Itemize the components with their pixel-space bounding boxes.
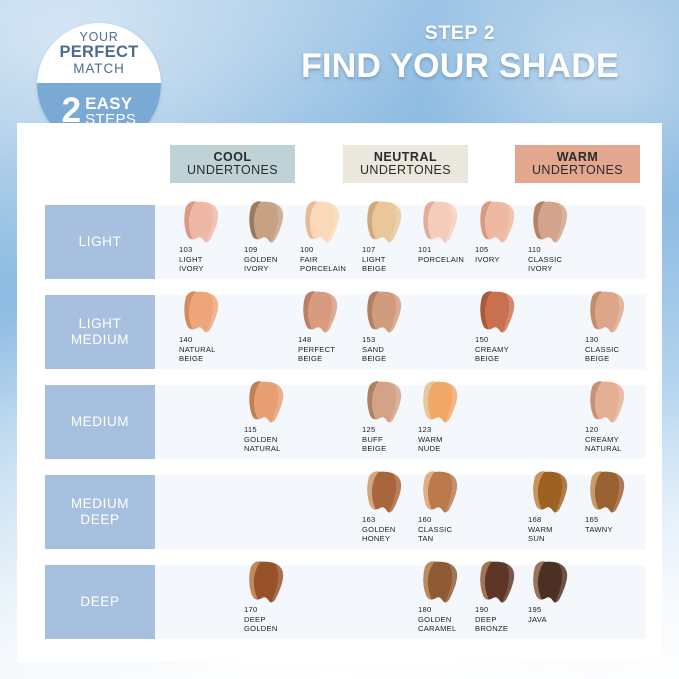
shade-label-100: 100FAIR PORCELAIN (300, 245, 346, 274)
shade-finder-infographic: STEP 2 FIND YOUR SHADE YOUR PERFECT MATC… (0, 0, 679, 679)
shade-depth-label-text: LIGHT (79, 234, 122, 250)
shade-name: FAIR PORCELAIN (300, 255, 346, 274)
step-label: STEP 2 (260, 24, 660, 44)
shade-label-165: 165TAWNY (585, 515, 613, 534)
shade-swatch-190 (474, 560, 520, 608)
shade-number: 170 (244, 605, 278, 615)
shade-number: 109 (244, 245, 278, 255)
shade-label-180: 180GOLDEN CARAMEL (418, 605, 456, 634)
shade-swatch-148 (297, 290, 343, 338)
shade-name: JAVA (528, 615, 547, 624)
shade-name: WARM SUN (528, 525, 553, 544)
shade-name: BUFF BEIGE (362, 435, 386, 454)
shade-name: GOLDEN CARAMEL (418, 615, 456, 634)
shade-label-101: 101PORCELAIN (418, 245, 464, 264)
shade-swatch-123 (417, 380, 463, 428)
shade-number: 148 (298, 335, 335, 345)
undertone-sublabel: UNDERTONES (532, 164, 623, 178)
shade-swatch-120 (584, 380, 630, 428)
shade-name: GOLDEN IVORY (244, 255, 278, 274)
badge-perfect-label: PERFECT (59, 44, 138, 61)
shade-number: 165 (585, 515, 613, 525)
shade-number: 150 (475, 335, 509, 345)
shade-label-148: 148PERFECT BEIGE (298, 335, 335, 364)
header: STEP 2 FIND YOUR SHADE (260, 24, 660, 84)
undertone-sublabel: UNDERTONES (187, 164, 278, 178)
shade-name: PERFECT BEIGE (298, 345, 335, 364)
shade-depth-label-medium: MEDIUM (45, 385, 155, 459)
shade-number: 123 (418, 425, 443, 435)
shade-swatch-153 (361, 290, 407, 338)
undertone-name: COOL (213, 151, 251, 165)
shade-number: 190 (475, 605, 508, 615)
shade-label-153: 153SAND BEIGE (362, 335, 386, 364)
shade-label-160: 160CLASSIC TAN (418, 515, 452, 544)
undertone-header-neutral: NEUTRALUNDERTONES (343, 145, 468, 183)
shade-swatch-115 (243, 380, 289, 428)
shade-number: 125 (362, 425, 386, 435)
shade-swatch-163 (361, 470, 407, 518)
shade-name: CLASSIC IVORY (528, 255, 562, 274)
shade-number: 107 (362, 245, 386, 255)
badge-match-label: MATCH (73, 62, 125, 76)
shade-swatch-103 (178, 200, 224, 248)
shade-number: 103 (179, 245, 204, 255)
shade-label-115: 115GOLDEN NATURAL (244, 425, 281, 454)
shade-swatch-125 (361, 380, 407, 428)
shade-depth-label-text: LIGHT MEDIUM (71, 316, 129, 348)
shade-depth-label-medium-deep: MEDIUM DEEP (45, 475, 155, 549)
shade-label-109: 109GOLDEN IVORY (244, 245, 278, 274)
shade-depth-label-light-medium: LIGHT MEDIUM (45, 295, 155, 369)
shade-name: WARM NUDE (418, 435, 443, 454)
shade-name: TAWNY (585, 525, 613, 534)
shade-name: CLASSIC BEIGE (585, 345, 619, 364)
page-title: FIND YOUR SHADE (260, 49, 660, 85)
shade-swatch-100 (299, 200, 345, 248)
shade-swatch-150 (474, 290, 520, 338)
shade-swatch-165 (584, 470, 630, 518)
shade-depth-label-text: MEDIUM DEEP (71, 496, 129, 528)
shade-label-105: 105IVORY (475, 245, 500, 264)
shade-number: 168 (528, 515, 553, 525)
shade-name: DEEP BRONZE (475, 615, 508, 634)
shade-name: PORCELAIN (418, 255, 464, 264)
shade-name: LIGHT IVORY (179, 255, 204, 274)
shade-name: GOLDEN NATURAL (244, 435, 281, 454)
shade-name: SAND BEIGE (362, 345, 386, 364)
shade-depth-label-text: DEEP (80, 594, 119, 610)
badge-top: YOUR PERFECT MATCH (37, 23, 161, 83)
shade-name: DEEP GOLDEN (244, 615, 278, 634)
shade-label-103: 103LIGHT IVORY (179, 245, 204, 274)
undertone-name: NEUTRAL (374, 151, 437, 165)
shade-name: GOLDEN HONEY (362, 525, 396, 544)
shade-name: CLASSIC TAN (418, 525, 452, 544)
shade-label-123: 123WARM NUDE (418, 425, 443, 454)
shade-swatch-195 (527, 560, 573, 608)
undertone-header-cool: COOLUNDERTONES (170, 145, 295, 183)
shade-depth-label-text: MEDIUM (71, 414, 129, 430)
shade-label-195: 195JAVA (528, 605, 547, 624)
undertone-header-warm: WARMUNDERTONES (515, 145, 640, 183)
shade-swatch-170 (243, 560, 289, 608)
shade-label-110: 110CLASSIC IVORY (528, 245, 562, 274)
badge-step-count: 2 (62, 97, 81, 126)
shade-depth-label-deep: DEEP (45, 565, 155, 639)
shade-name: CREAMY BEIGE (475, 345, 509, 364)
shade-swatch-168 (527, 470, 573, 518)
shade-number: 140 (179, 335, 216, 345)
undertone-sublabel: UNDERTONES (360, 164, 451, 178)
shade-number: 120 (585, 425, 622, 435)
shade-number: 130 (585, 335, 619, 345)
shade-depth-label-light: LIGHT (45, 205, 155, 279)
shade-name: LIGHT BEIGE (362, 255, 386, 274)
shade-label-163: 163GOLDEN HONEY (362, 515, 396, 544)
shade-label-140: 140NATURAL BEIGE (179, 335, 216, 364)
shade-number: 195 (528, 605, 547, 615)
shade-label-125: 125BUFF BEIGE (362, 425, 386, 454)
shade-swatch-160 (417, 470, 463, 518)
shade-name: IVORY (475, 255, 500, 264)
shade-swatch-140 (178, 290, 224, 338)
shade-name: CREAMY NATURAL (585, 435, 622, 454)
shade-label-150: 150CREAMY BEIGE (475, 335, 509, 364)
shade-label-190: 190DEEP BRONZE (475, 605, 508, 634)
shade-swatch-109 (243, 200, 289, 248)
shade-number: 153 (362, 335, 386, 345)
shade-number: 110 (528, 245, 562, 255)
undertone-name: WARM (557, 151, 599, 165)
shade-number: 105 (475, 245, 500, 255)
shade-number: 163 (362, 515, 396, 525)
shade-number: 115 (244, 425, 281, 435)
shade-swatch-110 (527, 200, 573, 248)
shade-label-120: 120CREAMY NATURAL (585, 425, 622, 454)
shade-label-170: 170DEEP GOLDEN (244, 605, 278, 634)
shade-label-168: 168WARM SUN (528, 515, 553, 544)
shade-swatch-101 (417, 200, 463, 248)
shade-number: 180 (418, 605, 456, 615)
shade-swatch-107 (361, 200, 407, 248)
shade-swatch-130 (584, 290, 630, 338)
shade-label-107: 107LIGHT BEIGE (362, 245, 386, 274)
shade-swatch-180 (417, 560, 463, 608)
shade-number: 100 (300, 245, 346, 255)
badge-your-label: YOUR (80, 31, 119, 44)
shade-number: 160 (418, 515, 452, 525)
shade-number: 101 (418, 245, 464, 255)
shade-label-130: 130CLASSIC BEIGE (585, 335, 619, 364)
badge-easy-label: EASY (85, 95, 136, 112)
shade-swatch-105 (474, 200, 520, 248)
shade-name: NATURAL BEIGE (179, 345, 216, 364)
